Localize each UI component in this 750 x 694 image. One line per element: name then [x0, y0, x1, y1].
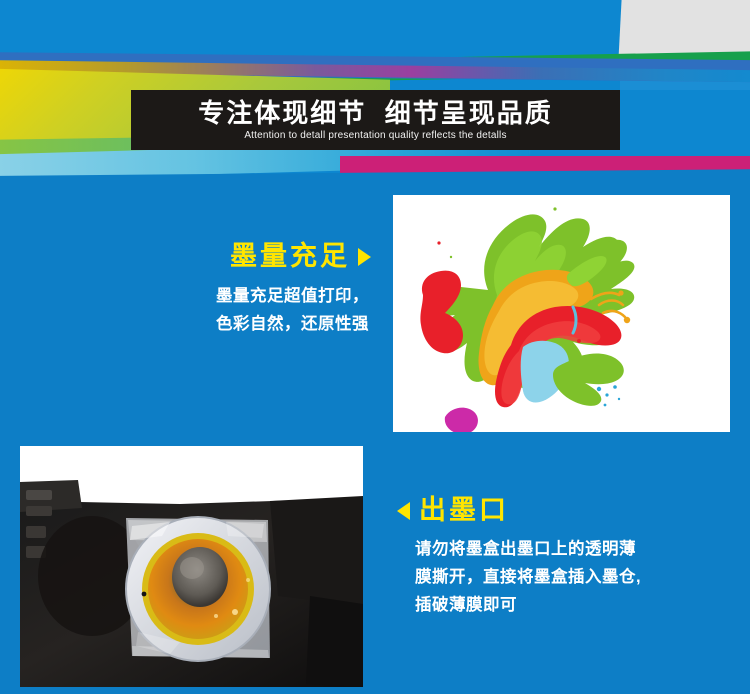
ink-outlet-photo-graphic — [20, 446, 363, 687]
headline-banner: 专注体现细节 细节呈现品质 Attention to detall presen… — [131, 90, 620, 150]
banner-title: 专注体现细节 细节呈现品质 — [198, 99, 552, 128]
paint-splash-image — [393, 195, 730, 432]
section-ink-outlet-heading-row: 出墨口 — [397, 497, 727, 524]
triangle-left-icon — [397, 502, 410, 520]
section-ink-volume-text: 墨量充足 墨量充足超值打印， 色彩自然，还原性强 — [140, 243, 375, 338]
section-ink-volume-body: 墨量充足超值打印， 色彩自然，还原性强 — [140, 282, 375, 338]
section-ink-volume-heading-row: 墨量充足 — [140, 243, 375, 270]
product-detail-page: 专注体现细节 细节呈现品质 Attention to detall presen… — [0, 0, 750, 694]
section-ink-volume-heading: 墨量充足 — [230, 243, 350, 270]
section-ink-outlet-body-line: 插破薄膜即可 — [415, 591, 727, 619]
paint-splash-graphic — [393, 195, 730, 432]
section-ink-volume-body-line: 墨量充足超值打印， — [140, 282, 369, 310]
section-ink-outlet-body-line: 请勿将墨盒出墨口上的透明薄 — [415, 535, 727, 563]
section-ink-outlet-heading: 出墨口 — [419, 497, 509, 524]
banner-subtitle: Attention to detall presentation quality… — [244, 130, 506, 141]
triangle-right-icon — [358, 248, 371, 266]
section-ink-outlet-text: 出墨口 请勿将墨盒出墨口上的透明薄 膜撕开，直接将墨盒插入墨仓, 插破薄膜即可 — [397, 497, 727, 619]
section-ink-outlet-body: 请勿将墨盒出墨口上的透明薄 膜撕开，直接将墨盒插入墨仓, 插破薄膜即可 — [397, 535, 727, 619]
ink-outlet-photo — [20, 446, 363, 687]
section-ink-outlet-body-line: 膜撕开，直接将墨盒插入墨仓, — [415, 563, 727, 591]
section-ink-volume-body-line: 色彩自然，还原性强 — [140, 310, 369, 338]
